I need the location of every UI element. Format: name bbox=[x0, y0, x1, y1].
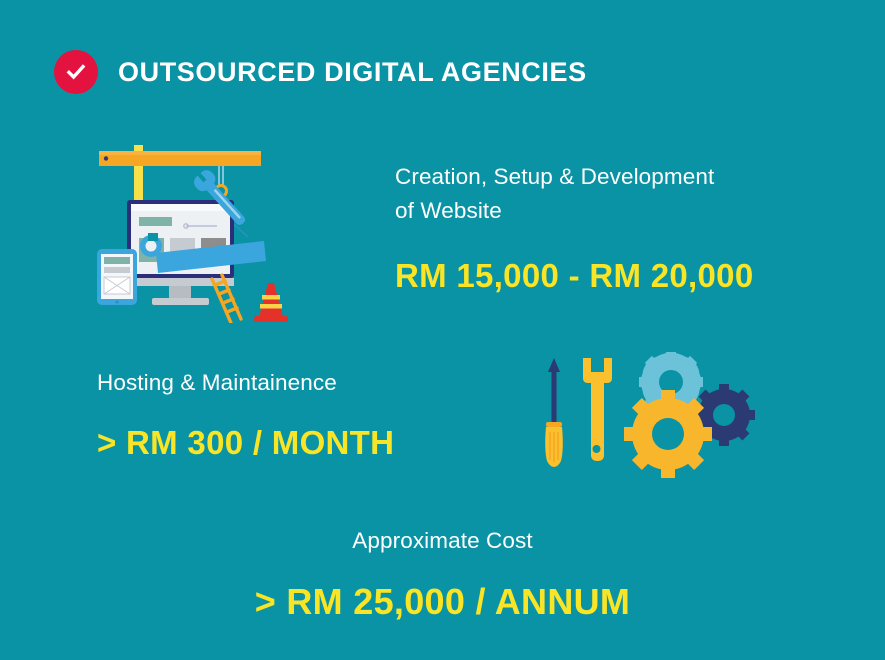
page-title: OUTSOURCED DIGITAL AGENCIES bbox=[118, 59, 587, 86]
gear-yellow bbox=[624, 390, 712, 478]
section-label-line2: of Website bbox=[395, 198, 502, 223]
section-approximate-cost: Approximate Cost > RM 25,000 / ANNUM bbox=[0, 524, 885, 623]
section-label-line1: Creation, Setup & Development bbox=[395, 164, 714, 189]
section-hosting-maintenance: Hosting & Maintainence > RM 300 / MONTH bbox=[97, 366, 517, 462]
infographic-slide: OUTSOURCED DIGITAL AGENCIES bbox=[0, 0, 885, 660]
tools-gears-illustration bbox=[535, 352, 760, 482]
wrench bbox=[583, 358, 612, 461]
section-label: Approximate Cost bbox=[0, 524, 885, 558]
header: OUTSOURCED DIGITAL AGENCIES bbox=[54, 50, 587, 94]
screwdriver bbox=[545, 358, 563, 467]
section-price: > RM 300 / MONTH bbox=[97, 423, 517, 463]
check-circle-icon bbox=[54, 50, 98, 94]
section-price: > RM 25,000 / ANNUM bbox=[0, 580, 885, 623]
section-label: Creation, Setup & Development of Website bbox=[395, 160, 835, 228]
website-construction-illustration bbox=[96, 133, 301, 323]
section-creation-setup-development: Creation, Setup & Development of Website… bbox=[395, 160, 835, 295]
section-price: RM 15,000 - RM 20,000 bbox=[395, 256, 835, 296]
section-label: Hosting & Maintainence bbox=[97, 366, 517, 400]
